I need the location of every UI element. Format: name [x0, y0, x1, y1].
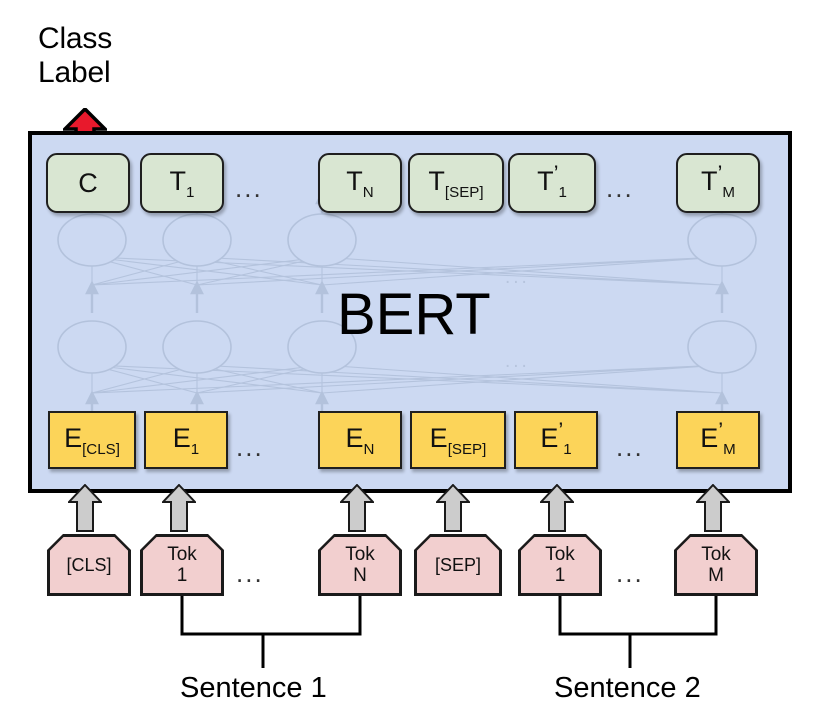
- token-box-label: Tok 1: [167, 544, 197, 586]
- token-box-label: [SEP]: [435, 555, 481, 576]
- box-label: T[SEP]: [428, 168, 483, 199]
- sentence-2-caption: Sentence 2: [554, 672, 701, 704]
- embedding-box-en[interactable]: EN: [318, 411, 402, 469]
- token-box-tok-m[interactable]: Tok M: [674, 534, 758, 596]
- tok-ell-1: ...: [236, 560, 264, 586]
- token-box-tok-1p[interactable]: Tok 1: [518, 534, 602, 596]
- box-label: C: [78, 170, 98, 197]
- token-box-label: Tok 1: [545, 544, 575, 586]
- output-box-c[interactable]: C: [46, 153, 130, 213]
- box-label: E[CLS]: [64, 425, 120, 456]
- output-box-t1[interactable]: T1: [140, 153, 224, 213]
- token-box-tok-sep[interactable]: [SEP]: [414, 534, 502, 596]
- output-box-tsep[interactable]: T[SEP]: [408, 153, 504, 213]
- output-box-tmp[interactable]: T’M: [676, 153, 760, 213]
- box-label: T’M: [701, 168, 735, 199]
- bert-architecture-figure: Class Label: [0, 0, 818, 723]
- box-label: E1: [173, 425, 199, 456]
- embedding-box-e1[interactable]: E1: [144, 411, 228, 469]
- box-label: T’1: [537, 168, 567, 199]
- box-label: EN: [346, 425, 375, 456]
- token-box-label: Tok N: [345, 544, 375, 586]
- embedding-box-e1p[interactable]: E’1: [514, 411, 598, 469]
- bert-ell-bottom: ...: [505, 352, 530, 371]
- box-label: E[SEP]: [430, 425, 487, 456]
- embedding-box-emp[interactable]: E’M: [676, 411, 760, 469]
- class-label-caption: Class Label: [38, 22, 112, 90]
- tok-ell-2: ...: [616, 560, 644, 586]
- token-box-tok-1[interactable]: Tok 1: [140, 534, 224, 596]
- box-label: TN: [346, 168, 373, 199]
- box-label: T1: [170, 168, 195, 199]
- embedding-box-ecls[interactable]: E[CLS]: [48, 411, 136, 469]
- token-box-label: [CLS]: [66, 555, 111, 576]
- sentence-1-caption: Sentence 1: [180, 672, 327, 704]
- embedding-box-esep[interactable]: E[SEP]: [410, 411, 506, 469]
- token-box-tok-n[interactable]: Tok N: [318, 534, 402, 596]
- output-box-tn[interactable]: TN: [318, 153, 402, 213]
- bert-model-label: BERT: [337, 286, 491, 344]
- token-box-tok-cls[interactable]: [CLS]: [47, 534, 131, 596]
- bert-ell-top: ...: [505, 268, 530, 287]
- token-box-label: Tok M: [701, 544, 731, 586]
- box-label: E’1: [540, 425, 571, 456]
- box-label: E’M: [700, 425, 736, 456]
- output-box-t1p[interactable]: T’1: [508, 153, 596, 213]
